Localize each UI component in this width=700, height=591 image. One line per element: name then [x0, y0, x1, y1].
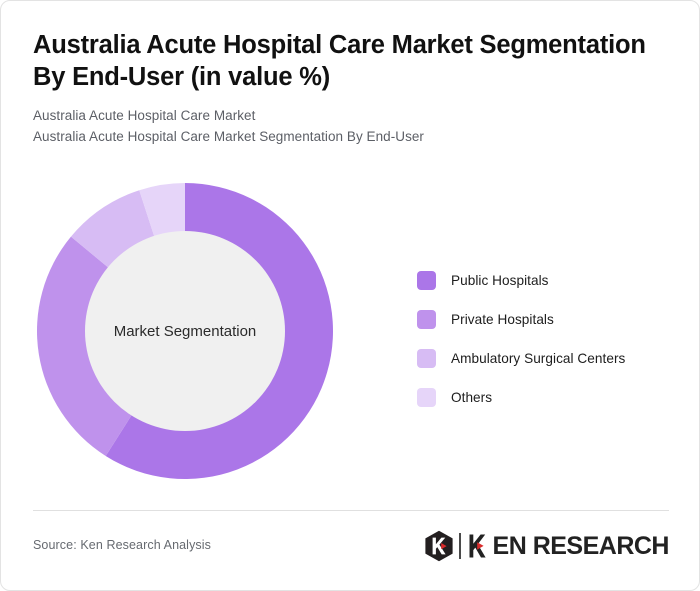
brand-wordmark: EN RESEARCH: [468, 533, 669, 559]
donut-chart: Market Segmentation: [37, 183, 333, 479]
donut-center-label: Market Segmentation: [114, 323, 257, 340]
page-title: Australia Acute Hospital Care Market Seg…: [33, 29, 658, 93]
chart-card: Australia Acute Hospital Care Market Seg…: [0, 0, 700, 591]
brand-k-icon: [468, 533, 493, 559]
chart-subtitle-primary: Australia Acute Hospital Care Market: [33, 106, 658, 127]
legend-label: Private Hospitals: [451, 312, 554, 327]
subtitle-block: Australia Acute Hospital Care Market Aus…: [33, 106, 658, 148]
chart-subtitle-secondary: Australia Acute Hospital Care Market Seg…: [33, 127, 658, 148]
legend-item[interactable]: Private Hospitals: [417, 300, 677, 339]
legend-item[interactable]: Public Hospitals: [417, 261, 677, 300]
legend-swatch: [417, 388, 436, 407]
chart-footer: Source: Ken Research Analysis EN RESEARC…: [33, 529, 669, 563]
legend-swatch: [417, 310, 436, 329]
footer-divider: [33, 510, 669, 511]
legend-label: Ambulatory Surgical Centers: [451, 351, 625, 366]
plot-area: Market Segmentation Public HospitalsPriv…: [1, 166, 700, 496]
ken-research-logo: EN RESEARCH: [424, 529, 669, 563]
legend-label: Public Hospitals: [451, 273, 549, 288]
chart-header: Australia Acute Hospital Care Market Seg…: [33, 29, 658, 148]
legend-swatch: [417, 349, 436, 368]
logo-divider: [459, 533, 461, 559]
legend-swatch: [417, 271, 436, 290]
ken-research-badge-icon: [424, 530, 454, 562]
donut-svg: Market Segmentation: [37, 183, 333, 479]
legend-item[interactable]: Ambulatory Surgical Centers: [417, 339, 677, 378]
brand-name-text: EN RESEARCH: [493, 534, 669, 559]
source-note: Source: Ken Research Analysis: [33, 538, 211, 552]
legend-item[interactable]: Others: [417, 378, 677, 417]
legend-label: Others: [451, 390, 492, 405]
chart-legend: Public HospitalsPrivate HospitalsAmbulat…: [417, 261, 677, 417]
